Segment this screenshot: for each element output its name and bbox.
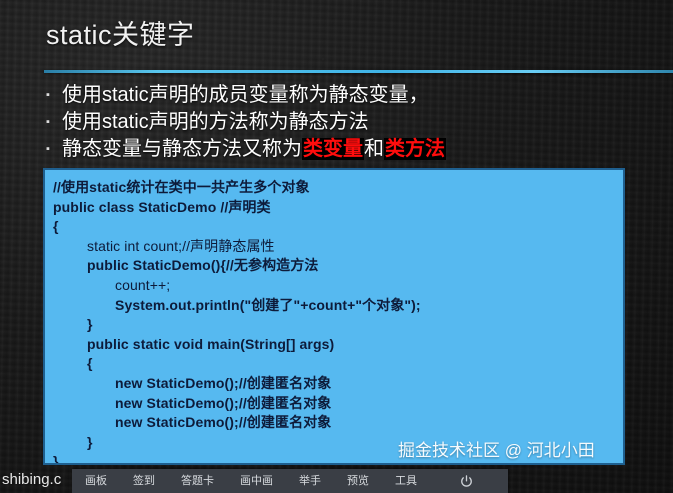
watermark-text: 掘金技术社区 @ 河北小田 (398, 440, 595, 462)
bullet-text-middle: 和 (364, 138, 384, 160)
code-line-text: public StaticDemo(){//无参构造方法 (53, 257, 318, 273)
code-lines-container: //使用static统计在类中一共产生多个对象public class Stat… (45, 170, 623, 465)
code-line-text: new StaticDemo();//创建匿名对象 (53, 395, 331, 411)
bullet-marker-icon: ▪ (44, 109, 62, 135)
code-line: public static void main(String[] args) (53, 335, 623, 355)
code-line-text: System.out.println("创建了"+count+"个对象"); (53, 297, 421, 313)
toolbar-item-raise-hand[interactable]: 举手 (286, 469, 334, 493)
toolbar-item-tools[interactable]: 工具 (382, 469, 430, 493)
code-line-text: } (53, 453, 59, 465)
bullet-marker-icon: ▪ (44, 82, 62, 108)
code-line-text: } (53, 434, 93, 450)
code-line-text: count++; (53, 277, 170, 293)
code-line: new StaticDemo();//创建匿名对象 (53, 374, 623, 394)
code-line-text: public class StaticDemo //声明类 (53, 199, 271, 215)
code-line: { (53, 354, 623, 374)
code-line: static int count;//声明静态属性 (53, 237, 623, 257)
power-icon[interactable] (454, 469, 478, 493)
code-line: public class StaticDemo //声明类 (53, 198, 623, 218)
page-title: static关键字 (46, 18, 195, 52)
bullet-text: 使用static声明的方法称为静态方法 (62, 109, 369, 135)
bullet-marker-icon: ▪ (44, 136, 62, 162)
list-item: ▪ 使用static声明的方法称为静态方法 (44, 109, 644, 135)
code-line: System.out.println("创建了"+count+"个对象"); (53, 296, 623, 316)
title-underline-rule (44, 70, 673, 73)
code-block: //使用static统计在类中一共产生多个对象public class Stat… (43, 168, 625, 465)
toolbar-item-answer-sheet[interactable]: 答题卡 (168, 469, 227, 493)
code-line-text: { (53, 218, 59, 234)
code-line: new StaticDemo();//创建匿名对象 (53, 394, 623, 414)
list-item: ▪ 静态变量与静态方法又称为类变量和类方法 (44, 136, 644, 162)
code-line-text: } (53, 316, 93, 332)
code-line: count++; (53, 276, 623, 296)
code-line: //使用static统计在类中一共产生多个对象 (53, 178, 623, 198)
highlight-class-method: 类方法 (384, 138, 446, 160)
code-line: public StaticDemo(){//无参构造方法 (53, 256, 623, 276)
code-line-text: { (53, 355, 93, 371)
code-line-text: new StaticDemo();//创建匿名对象 (53, 375, 331, 391)
list-item: ▪ 使用static声明的成员变量称为静态变量， (44, 82, 644, 108)
code-line-text: public static void main(String[] args) (53, 336, 334, 352)
bullet-text: 使用static声明的成员变量称为静态变量， (62, 82, 429, 108)
code-line-text: //使用static统计在类中一共产生多个对象 (53, 179, 310, 195)
code-line: new StaticDemo();//创建匿名对象 (53, 413, 623, 433)
toolbar-item-whiteboard[interactable]: 画板 (72, 469, 120, 493)
slide-screen: static关键字 ▪ 使用static声明的成员变量称为静态变量， ▪ 使用s… (0, 0, 673, 493)
code-line-text: new StaticDemo();//创建匿名对象 (53, 414, 331, 430)
code-line: } (53, 315, 623, 335)
code-line-text: static int count;//声明静态属性 (53, 238, 275, 254)
toolbar-item-picture-in-picture[interactable]: 画中画 (227, 469, 286, 493)
toolbar-item-checkin[interactable]: 签到 (120, 469, 168, 493)
bottom-toolbar: 画板 签到 答题卡 画中画 举手 预览 工具 (72, 469, 508, 493)
bullet-list: ▪ 使用static声明的成员变量称为静态变量， ▪ 使用static声明的方法… (44, 82, 644, 163)
bullet-text-prefix: 静态变量与静态方法又称为 (62, 138, 302, 160)
bullet-text-rich: 静态变量与静态方法又称为类变量和类方法 (62, 136, 446, 162)
corner-residual-text: shibing.c (2, 470, 61, 489)
toolbar-item-preview[interactable]: 预览 (334, 469, 382, 493)
code-line: { (53, 217, 623, 237)
highlight-class-variable: 类变量 (302, 138, 364, 160)
